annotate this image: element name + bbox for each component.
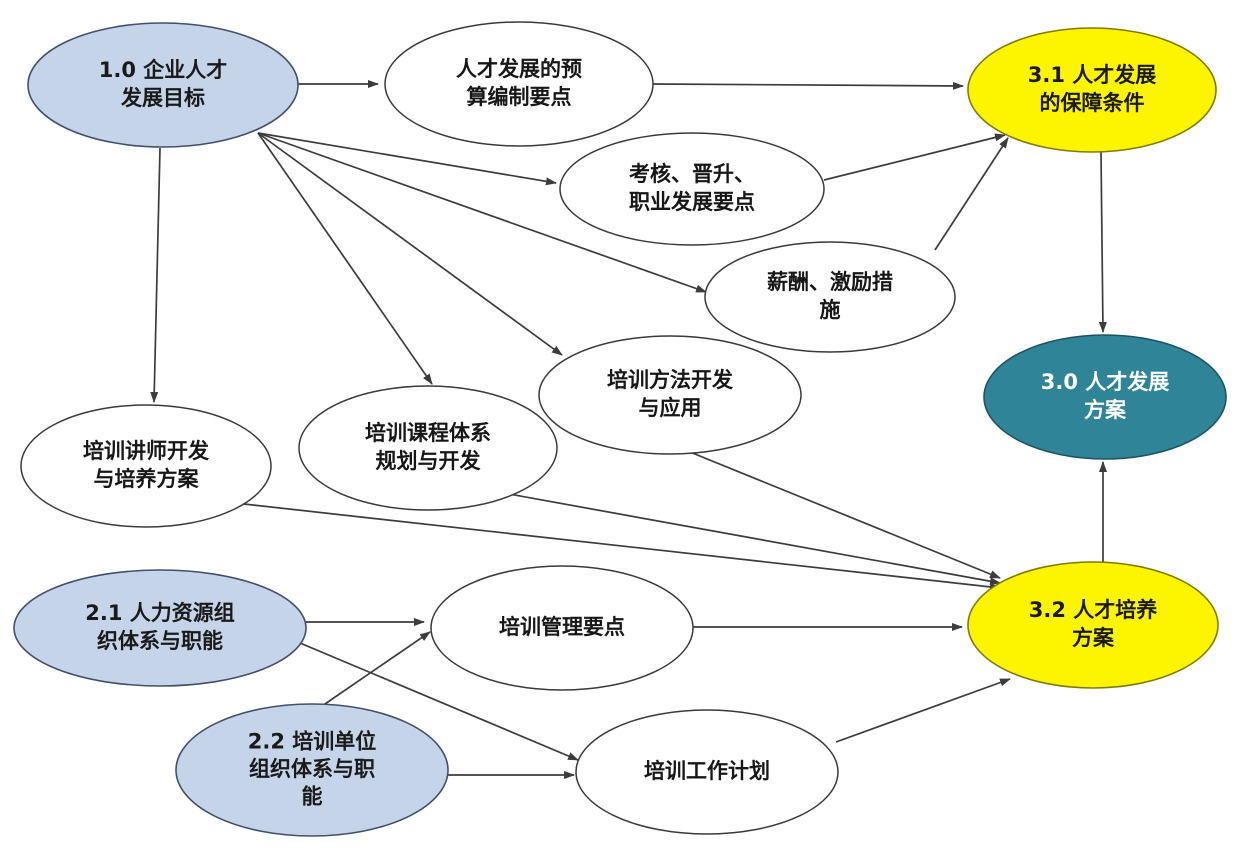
cultivation-node-shape[interactable] (968, 562, 1218, 688)
plan-node-shape[interactable] (984, 335, 1226, 459)
trainer-development-node-shape[interactable] (21, 405, 271, 527)
training-method-node[interactable]: 培训方法开发与应用 (539, 336, 801, 454)
edge-goal-to-method (258, 133, 562, 355)
course-system-node[interactable]: 培训课程体系规划与开发 (299, 386, 557, 510)
plan-node[interactable]: 3.0 人才发展方案 (984, 335, 1226, 459)
salary-incentive-node[interactable]: 薪酬、激励措施 (705, 242, 955, 352)
edge-goal-to-course (258, 133, 432, 384)
guarantee-node[interactable]: 3.1 人才发展的保障条件 (968, 28, 1216, 152)
budget-node[interactable]: 人才发展的预算编制要点 (385, 22, 653, 146)
diagram-canvas: 1.0 企业人才发展目标人才发展的预算编制要点3.1 人才发展的保障条件考核、晋… (0, 0, 1245, 864)
salary-incentive-node-shape[interactable] (705, 242, 955, 352)
training-workplan-node-shape[interactable] (576, 710, 838, 834)
guarantee-node-shape[interactable] (968, 28, 1216, 152)
flow-diagram: 1.0 企业人才发展目标人才发展的预算编制要点3.1 人才发展的保障条件考核、晋… (0, 0, 1245, 864)
edge-budget-to-guarantee (653, 84, 963, 86)
cultivation-node[interactable]: 3.2 人才培养方案 (968, 562, 1218, 688)
edge-appraisal-to-guarantee (824, 135, 1005, 180)
edge-goal-to-trainer (154, 148, 160, 402)
edge-unit-to-management (322, 632, 430, 706)
hr-organization-node-shape[interactable] (14, 570, 306, 686)
appraisal-promotion-node[interactable]: 考核、晋升、职业发展要点 (560, 133, 824, 245)
trainer-development-node[interactable]: 培训讲师开发与培养方案 (21, 405, 271, 527)
edge-workplan-to-cultivation (836, 679, 1010, 742)
appraisal-promotion-node-shape[interactable] (560, 133, 824, 245)
edge-salary-to-guarantee (935, 138, 1008, 250)
edge-guarantee-to-plan (1101, 152, 1103, 332)
training-method-node-shape[interactable] (539, 336, 801, 454)
training-management-node-shape[interactable] (431, 566, 693, 690)
course-system-node-shape[interactable] (299, 386, 557, 510)
training-unit-node-shape[interactable] (176, 704, 448, 836)
training-management-node[interactable]: 培训管理要点 (431, 566, 693, 690)
budget-node-shape[interactable] (385, 22, 653, 146)
hr-organization-node[interactable]: 2.1 人力资源组织体系与职能 (14, 570, 306, 686)
nodes-layer: 1.0 企业人才发展目标人才发展的预算编制要点3.1 人才发展的保障条件考核、晋… (14, 22, 1226, 836)
goal-node[interactable]: 1.0 企业人才发展目标 (28, 23, 298, 147)
training-workplan-node[interactable]: 培训工作计划 (576, 710, 838, 834)
training-unit-node[interactable]: 2.2 培训单位组织体系与职能 (176, 704, 448, 836)
goal-node-shape[interactable] (28, 23, 298, 147)
